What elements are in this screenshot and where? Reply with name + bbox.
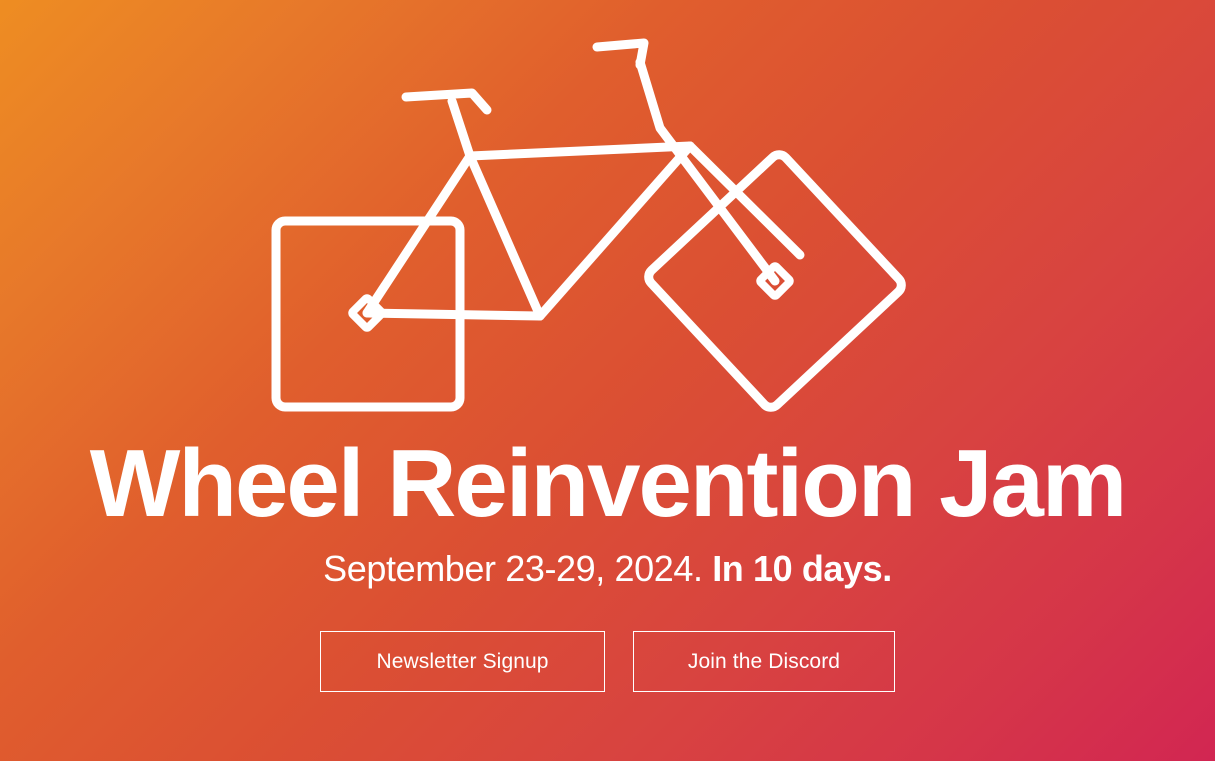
- chain-stay: [367, 313, 540, 316]
- hero-subtitle: September 23-29, 2024. In 10 days.: [323, 548, 892, 589]
- page-title: Wheel Reinvention Jam: [90, 436, 1126, 532]
- join-discord-button[interactable]: Join the Discord: [633, 631, 895, 692]
- handlebar: [406, 93, 487, 110]
- jam-date-text: September 23-29, 2024.: [323, 548, 702, 589]
- jam-hero-banner: Wheel Reinvention Jam September 23-29, 2…: [0, 0, 1215, 761]
- countdown-text: In 10 days.: [712, 548, 892, 589]
- square-wheel-bicycle-illustration: [0, 0, 1215, 440]
- seat-stay: [540, 146, 690, 316]
- newsletter-signup-button[interactable]: Newsletter Signup: [320, 631, 605, 692]
- top-tube: [470, 146, 690, 156]
- cta-button-row: Newsletter Signup Join the Discord: [320, 631, 895, 692]
- down-tube: [470, 156, 540, 316]
- fork-tube: [367, 101, 470, 313]
- hero-content: Wheel Reinvention Jam September 23-29, 2…: [0, 436, 1215, 692]
- bicycle-svg: [0, 0, 1215, 440]
